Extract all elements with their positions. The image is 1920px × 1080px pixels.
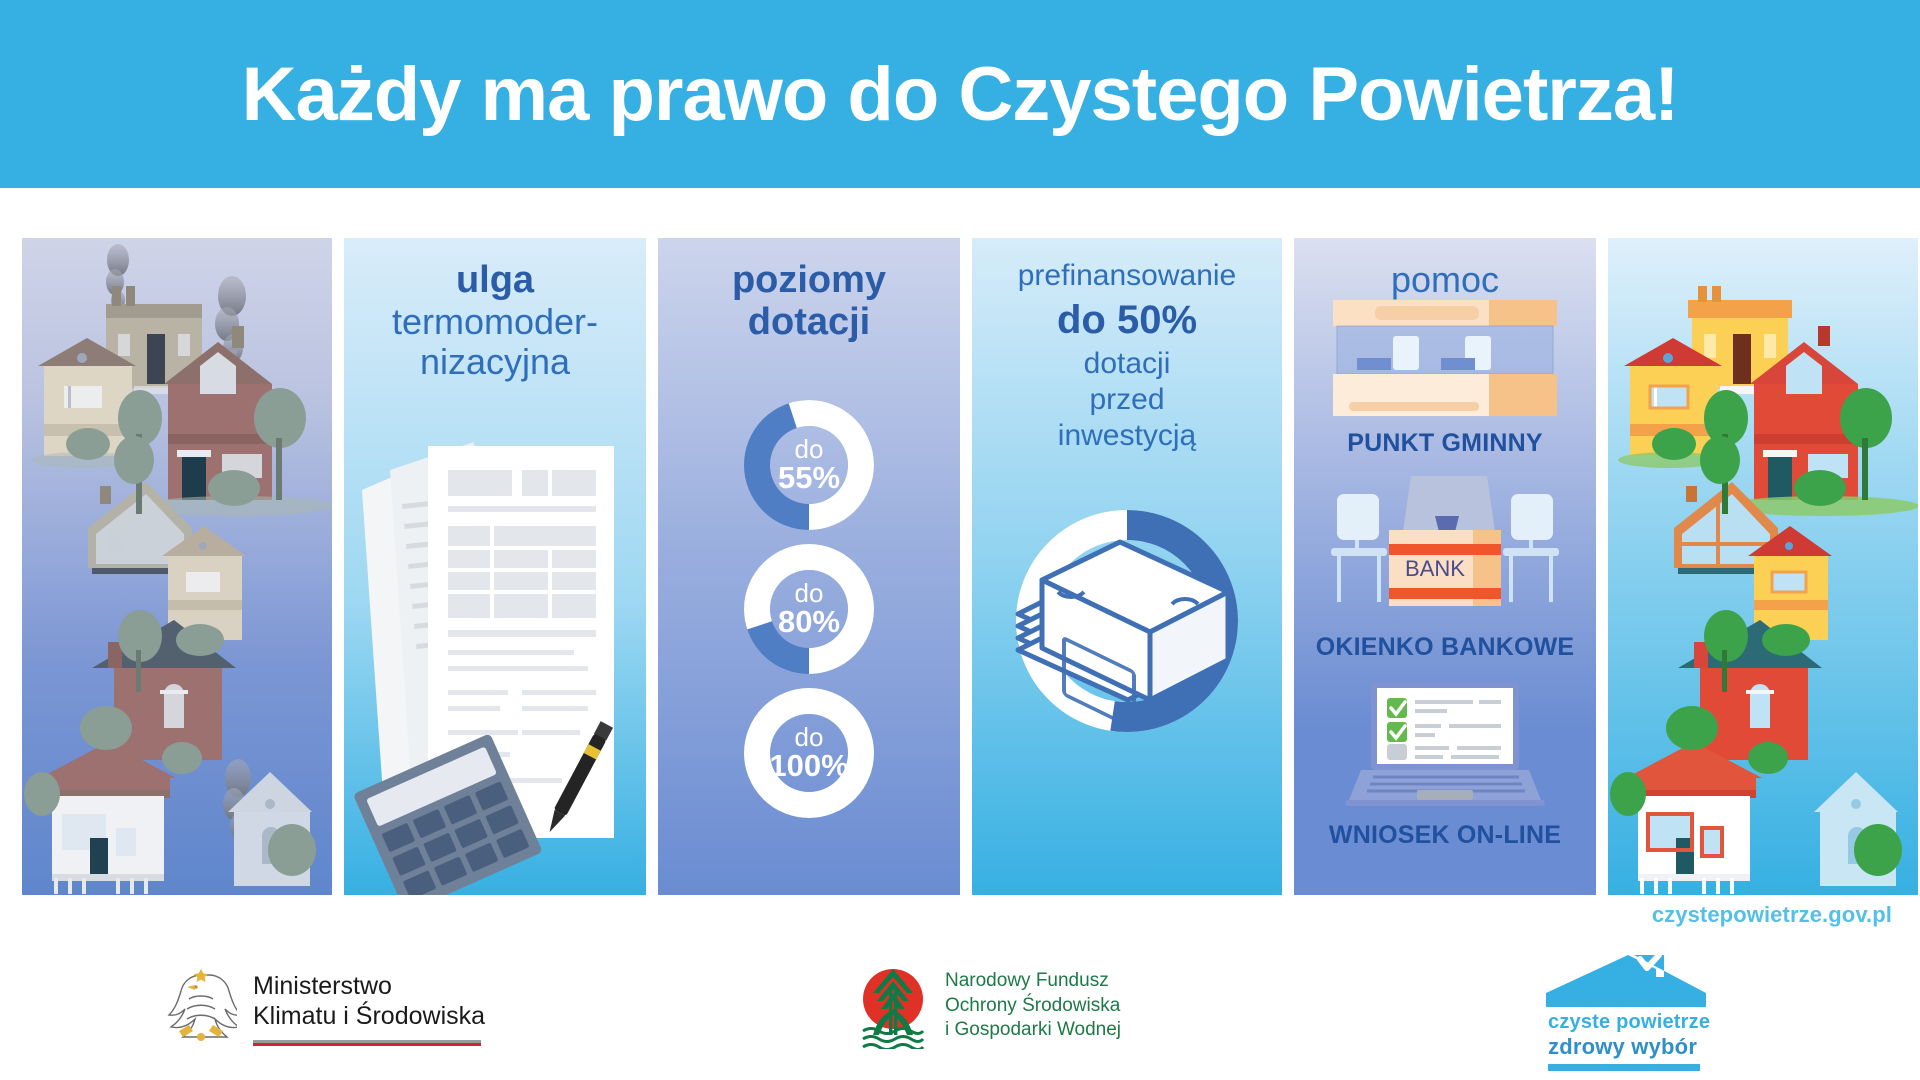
ministry-line1: Ministerstwo xyxy=(253,971,485,1002)
counter-desk-icon xyxy=(1329,296,1561,418)
panel4-heading-line1: prefinansowanie xyxy=(972,258,1282,294)
clean-village-illustration xyxy=(1608,238,1918,895)
pomoc-item-punkt-gminny: PUNKT GMINNY xyxy=(1294,296,1596,458)
czyste-powietrze-name: czyste powietrze zdrowy wybór xyxy=(1548,1011,1710,1071)
panel2-heading: ulga termomoder- nizacyjna xyxy=(344,260,646,382)
donut-55: do 55% xyxy=(740,396,878,534)
polish-eagle-icon xyxy=(165,965,237,1051)
czyste-powietrze-line1: czyste powietrze xyxy=(1548,1011,1710,1034)
nfosigw-name: Narodowy Fundusz Ochrony Środowiska i Go… xyxy=(945,969,1121,1043)
panel-prefinansowanie: prefinansowanie do 50% dotacji przed inw… xyxy=(972,238,1282,895)
laptop-checklist-icon xyxy=(1343,678,1547,810)
donut-80-value: 80% xyxy=(778,606,840,638)
donut-80-do: do xyxy=(795,580,824,607)
donut-80: do 80% xyxy=(740,540,878,678)
pomoc-label-okienko-bankowe: OKIENKO BANKOWE xyxy=(1294,633,1596,662)
czyste-powietrze-line2: zdrowy wybór xyxy=(1548,1034,1710,1059)
panel3-heading-line1: poziomy xyxy=(658,260,960,302)
bank-desk-icon: BANK xyxy=(1323,470,1567,622)
panel5-heading-text: pomoc xyxy=(1294,260,1596,300)
ministry-rule xyxy=(253,1040,481,1046)
panel2-heading-line2: termomoder- xyxy=(344,302,646,342)
money-ring-illustration xyxy=(1002,496,1252,746)
footer-logos: Ministerstwo Klimatu i Środowiska xyxy=(0,955,1920,1080)
logo-nfosigw: Narodowy Fundusz Ochrony Środowiska i Go… xyxy=(855,963,1121,1049)
panel-ulga-termomodernizacyjna: ulga termomoder- nizacyjna xyxy=(344,238,646,895)
documents-calculator-pen-illustration xyxy=(344,408,646,895)
donut-100-value: 100% xyxy=(769,750,848,782)
panel3-heading: poziomy dotacji xyxy=(658,260,960,344)
panel4-heading: prefinansowanie do 50% dotacji przed inw… xyxy=(972,258,1282,454)
ministry-line2: Klimatu i Środowiska xyxy=(253,1001,485,1032)
panel4-heading-line5: inwestycją xyxy=(972,418,1282,454)
logo-czyste-powietrze: czyste powietrze zdrowy wybór xyxy=(1540,955,1716,1009)
nfosigw-line1: Narodowy Fundusz xyxy=(945,969,1121,994)
panel2-heading-bold: ulga xyxy=(344,260,646,302)
donut-55-value: 55% xyxy=(778,462,840,494)
panel-pomoc: pomoc PUNKT GMINNY xyxy=(1294,238,1596,895)
website-url[interactable]: czystepowietrze.gov.pl xyxy=(1652,902,1892,928)
czyste-powietrze-rule xyxy=(1548,1064,1700,1071)
panel4-heading-line4: przed xyxy=(972,382,1282,418)
logo-ministerstwo-klimatu: Ministerstwo Klimatu i Środowiska xyxy=(165,965,485,1051)
donut-55-label: do 55% xyxy=(740,396,878,534)
pomoc-item-okienko-bankowe: BANK OKIENKO BANKOWE xyxy=(1294,470,1596,662)
pomoc-item-wniosek-online: WNIOSEK ON-LINE xyxy=(1294,678,1596,850)
panel-polluted-village xyxy=(22,238,332,895)
panel-clean-village xyxy=(1608,238,1918,895)
panel4-heading-bold: do 50% xyxy=(972,298,1282,342)
bank-sign-text: BANK xyxy=(1405,556,1465,581)
panel-poziomy-dotacji: poziomy dotacji do 55% xyxy=(658,238,960,895)
infographic-page: Każdy ma prawo do Czystego Powietrza! xyxy=(0,0,1920,1080)
pomoc-label-punkt-gminny: PUNKT GMINNY xyxy=(1294,429,1596,458)
panel4-heading-line3: dotacji xyxy=(972,346,1282,382)
donut-100-label: do 100% xyxy=(740,684,878,822)
header-banner: Każdy ma prawo do Czystego Powietrza! xyxy=(0,0,1920,188)
donut-100: do 100% xyxy=(740,684,878,822)
donut-chart-group: do 55% do 80% xyxy=(658,396,960,822)
panel3-heading-line2: dotacji xyxy=(658,302,960,344)
donut-55-do: do xyxy=(795,436,824,463)
page-title: Każdy ma prawo do Czystego Powietrza! xyxy=(242,51,1679,138)
panel2-heading-line3: nizacyjna xyxy=(344,342,646,382)
nfosigw-emblem-icon xyxy=(855,963,931,1049)
donut-80-label: do 80% xyxy=(740,540,878,678)
panel5-heading: pomoc xyxy=(1294,260,1596,300)
nfosigw-line2: Ochrony Środowiska xyxy=(945,994,1121,1019)
panel-strip: ulga termomoder- nizacyjna xyxy=(22,238,1898,895)
pomoc-label-wniosek-online: WNIOSEK ON-LINE xyxy=(1294,821,1596,850)
nfosigw-line3: i Gospodarki Wodnej xyxy=(945,1018,1121,1043)
polluted-village-illustration xyxy=(22,238,332,895)
ministry-name: Ministerstwo Klimatu i Środowiska xyxy=(253,971,485,1046)
house-check-icon xyxy=(1540,955,1716,1009)
donut-100-do: do xyxy=(795,724,824,751)
